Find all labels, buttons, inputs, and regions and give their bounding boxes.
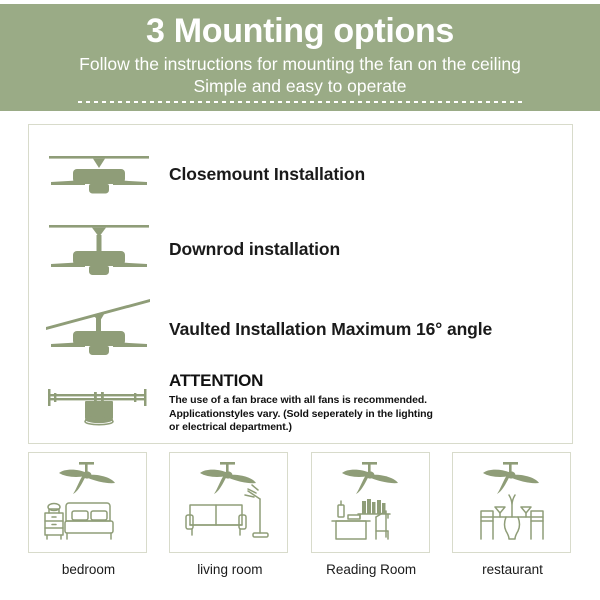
room-card-living-room: living room — [169, 452, 290, 578]
room-label-reading-room: Reading Room — [311, 562, 432, 578]
attention-line-3: or electrical department.) — [169, 421, 433, 435]
reading-room-scene-icon — [311, 452, 430, 553]
ceiling-fan-closemount-icon — [29, 149, 169, 199]
ceiling-fan-downrod-icon — [29, 218, 169, 280]
option-row-vaulted: Vaulted Installation Maximum 16° angle — [29, 293, 572, 365]
bedroom-scene-icon — [28, 452, 147, 553]
option-row-downrod: Downrod installation — [29, 213, 572, 285]
option-label-downrod: Downrod installation — [169, 239, 340, 260]
living-room-scene-icon — [169, 452, 288, 553]
header-banner: 3 Mounting options Follow the instructio… — [0, 4, 600, 111]
room-card-restaurant: restaurant — [452, 452, 573, 578]
header-subtitle-line1: Follow the instructions for mounting the… — [0, 51, 600, 75]
room-card-bedroom: bedroom — [28, 452, 149, 578]
room-scenes-row: bedroom — [28, 452, 573, 578]
option-row-closemount: Closemount Installation — [29, 143, 572, 205]
attention-text-block: ATTENTION The use of a fan brace with al… — [169, 367, 433, 435]
room-label-living-room: living room — [169, 562, 290, 578]
mounting-options-panel: Closemount Installation Downrod installa… — [28, 124, 573, 444]
attention-title: ATTENTION — [169, 371, 433, 391]
restaurant-scene-icon — [452, 452, 571, 553]
room-card-reading-room: Reading Room — [311, 452, 432, 578]
attention-line-1: The use of a fan brace with all fans is … — [169, 394, 433, 408]
option-label-closemount: Closemount Installation — [169, 164, 365, 185]
room-label-bedroom: bedroom — [28, 562, 149, 578]
room-label-restaurant: restaurant — [452, 562, 573, 578]
fan-brace-icon — [29, 367, 169, 429]
option-label-vaulted: Vaulted Installation Maximum 16° angle — [169, 319, 492, 340]
dashed-divider — [78, 101, 522, 103]
ceiling-fan-vaulted-icon — [29, 297, 169, 361]
header-subtitle-line2: Simple and easy to operate — [0, 75, 600, 97]
page-title: 3 Mounting options — [0, 4, 600, 51]
option-row-attention: ATTENTION The use of a fan brace with al… — [29, 367, 572, 437]
attention-line-2: Applicationstyles vary. (Sold seperately… — [169, 408, 433, 422]
